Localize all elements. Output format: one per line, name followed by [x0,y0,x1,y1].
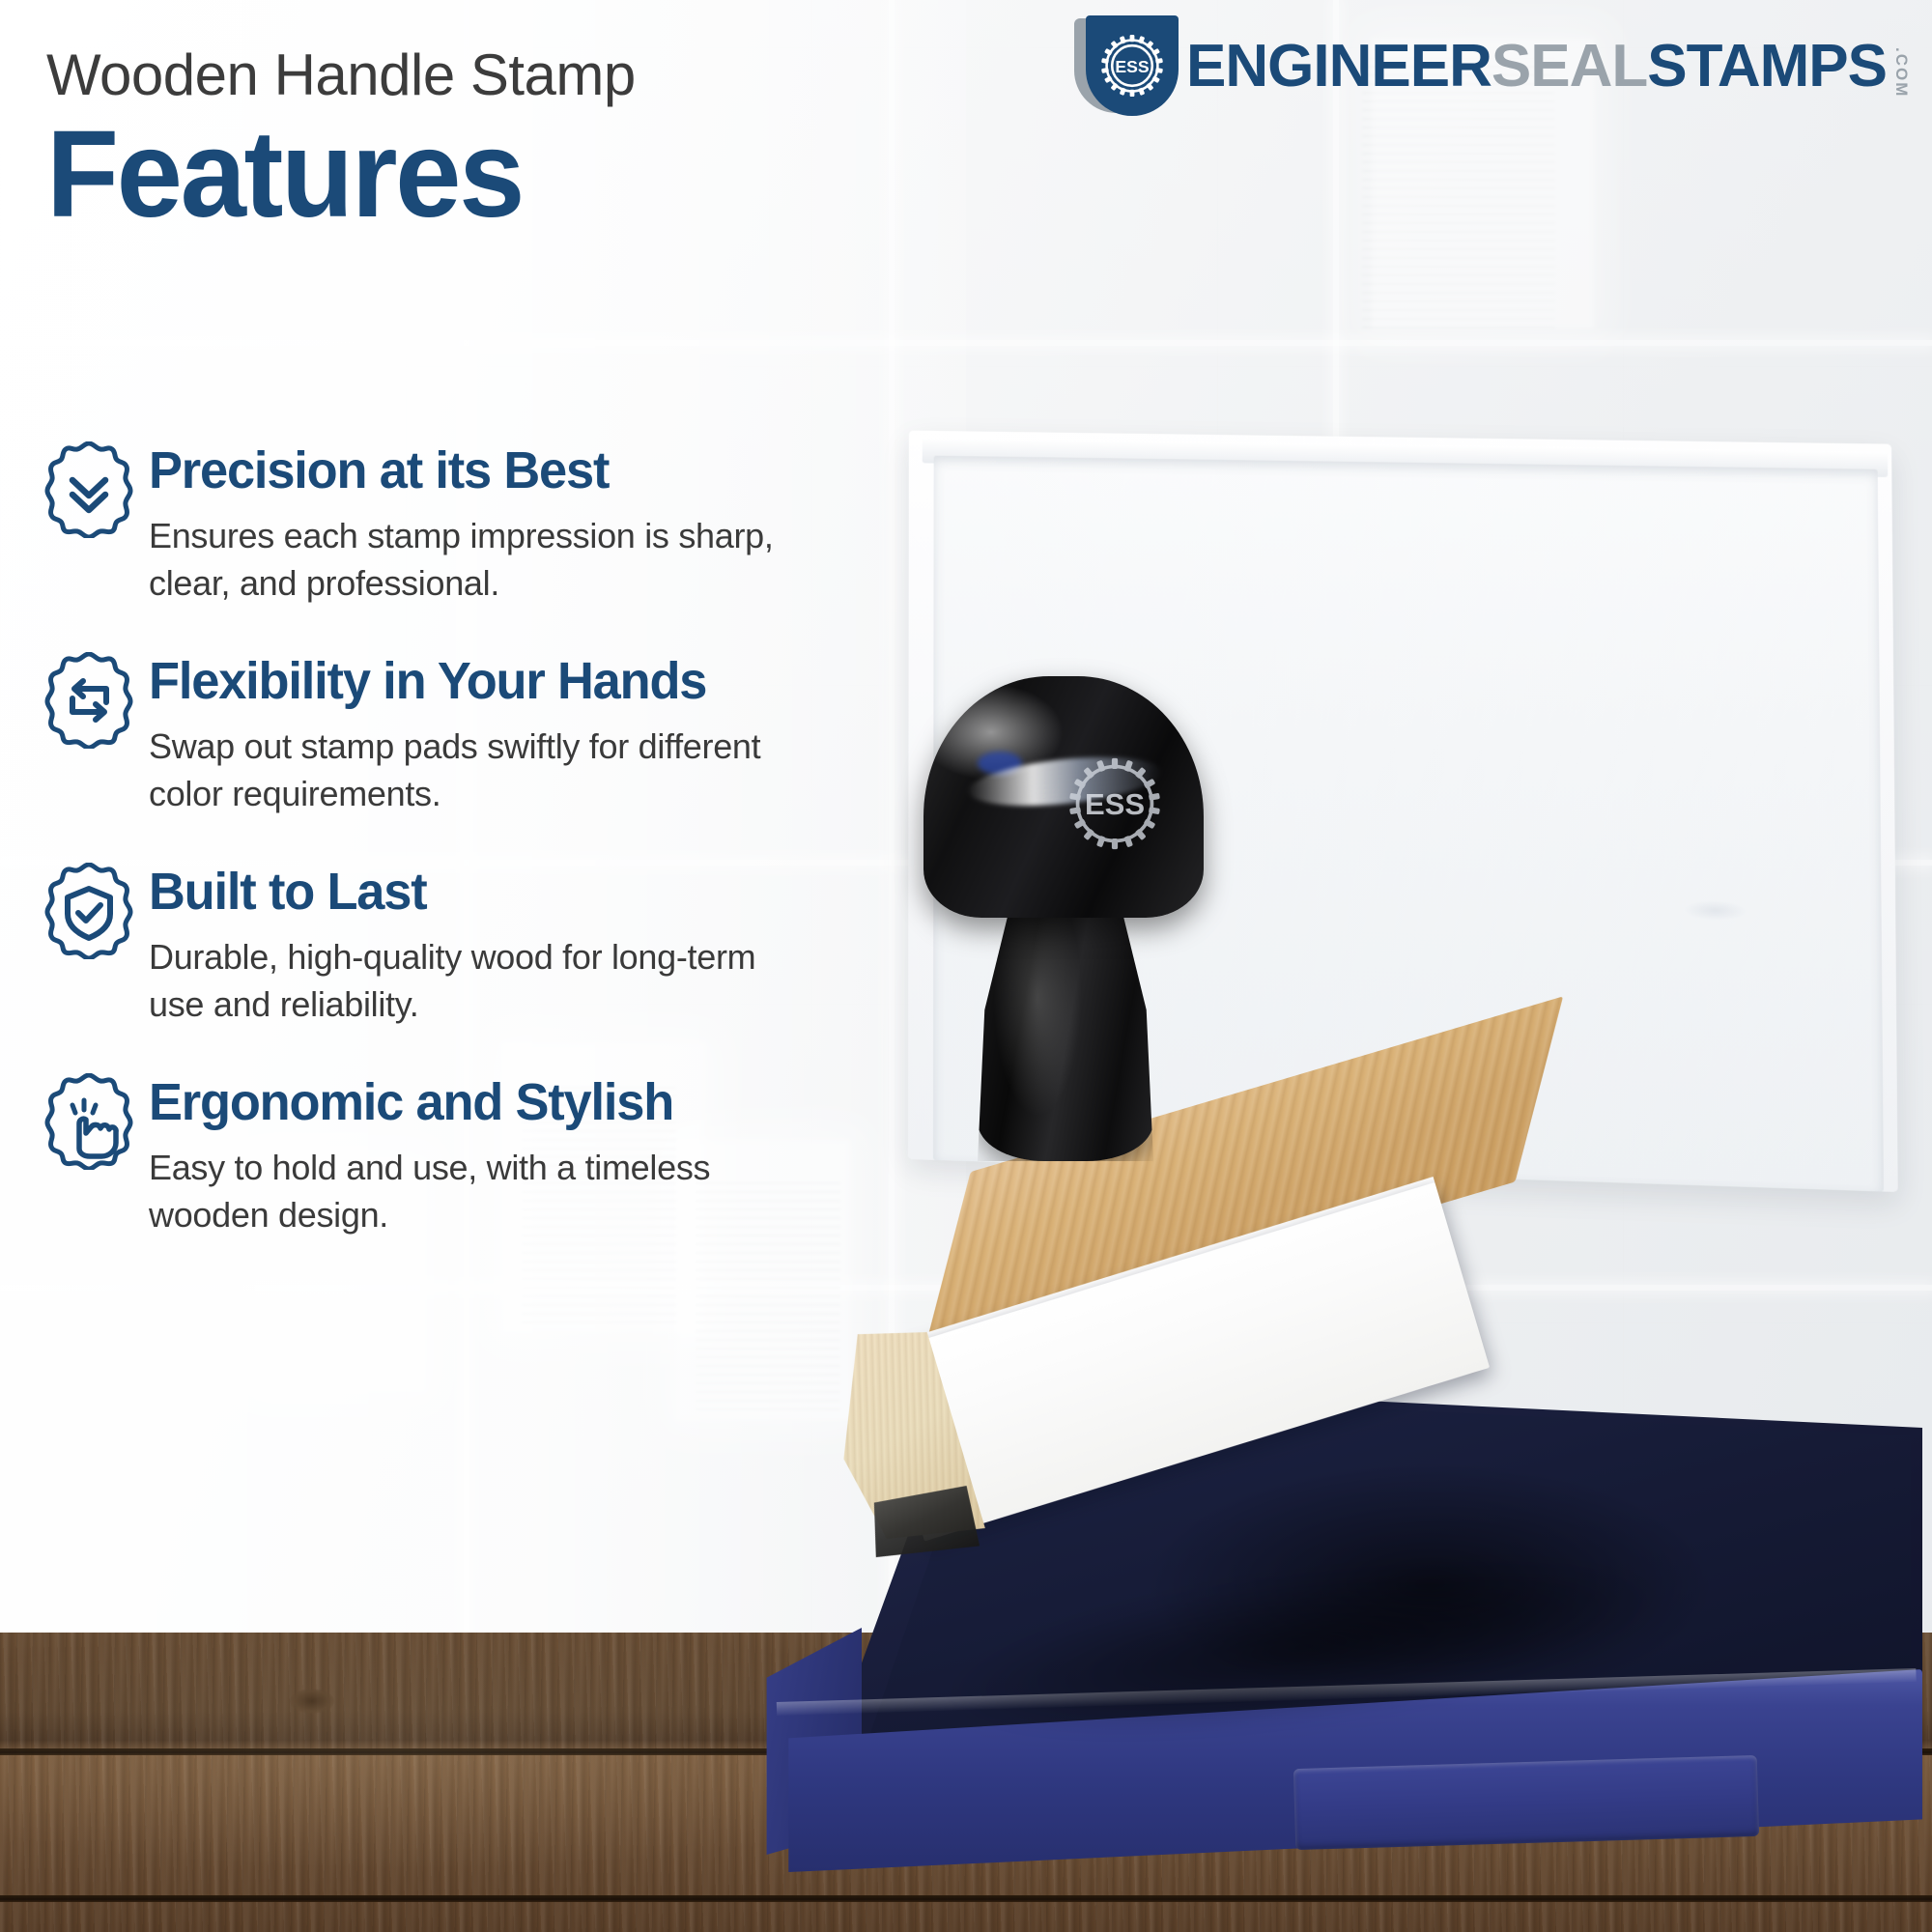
feature-description: Durable, high-quality wood for long-term… [149,934,815,1029]
badge-swap-arrows-icon [29,650,149,756]
brand-word-engineer: ENGINEER [1186,32,1492,100]
feature-text: Precision at its Best Ensures each stamp… [149,440,956,608]
badge-shield-check-icon [29,861,149,967]
brand-word-stamps: STAMPS [1647,32,1887,100]
badge-double-chevron-down-icon [29,440,149,546]
feature-item: Precision at its Best Ensures each stamp… [29,440,956,608]
shield-icon: ESS [1086,15,1179,116]
feature-title: Precision at its Best [149,443,932,497]
feature-item: Ergonomic and Stylish Easy to hold and u… [29,1071,956,1239]
feature-item: Flexibility in Your Hands Swap out stamp… [29,650,956,818]
case-latch [1293,1755,1759,1850]
feature-item: Built to Last Durable, high-quality wood… [29,861,956,1029]
brand-logo[interactable]: ESS ENGINEER SEAL STAMPS .COM [1074,15,1911,116]
feature-title: Flexibility in Your Hands [149,654,932,708]
feature-description: Easy to hold and use, with a timeless wo… [149,1145,815,1239]
feature-title: Ergonomic and Stylish [149,1075,932,1129]
feature-text: Flexibility in Your Hands Swap out stamp… [149,650,956,818]
feature-title: Built to Last [149,865,932,919]
brand-tld: .COM [1891,32,1911,98]
brand-wordmark: ENGINEER SEAL STAMPS .COM [1186,32,1911,100]
product-photo: ESS [908,415,1932,1855]
feature-text: Ergonomic and Stylish Easy to hold and u… [149,1071,956,1239]
ess-monogram: ESS [1115,57,1149,76]
handle-neck [978,881,1153,1161]
ess-shield-mark: ESS [1074,15,1182,116]
handle-ess-monogram: ESS [1085,787,1145,821]
page-subtitle: Wooden Handle Stamp [46,44,916,105]
gear-icon: ESS [1094,27,1171,104]
feature-text: Built to Last Durable, high-quality wood… [149,861,956,1029]
brand-word-seal: SEAL [1492,32,1647,100]
badge-tap-hand-icon [29,1071,149,1178]
handle-ess-logo: ESS [1055,744,1175,864]
page-title: Features [46,113,881,237]
features-list: Precision at its Best Ensures each stamp… [29,440,956,1282]
feature-description: Swap out stamp pads swiftly for differen… [149,724,815,818]
header-block: Wooden Handle Stamp Features [46,44,916,237]
feature-description: Ensures each stamp impression is sharp, … [149,513,815,608]
gear-icon: ESS [1055,744,1175,864]
stamp-handle: ESS [908,676,1227,1188]
